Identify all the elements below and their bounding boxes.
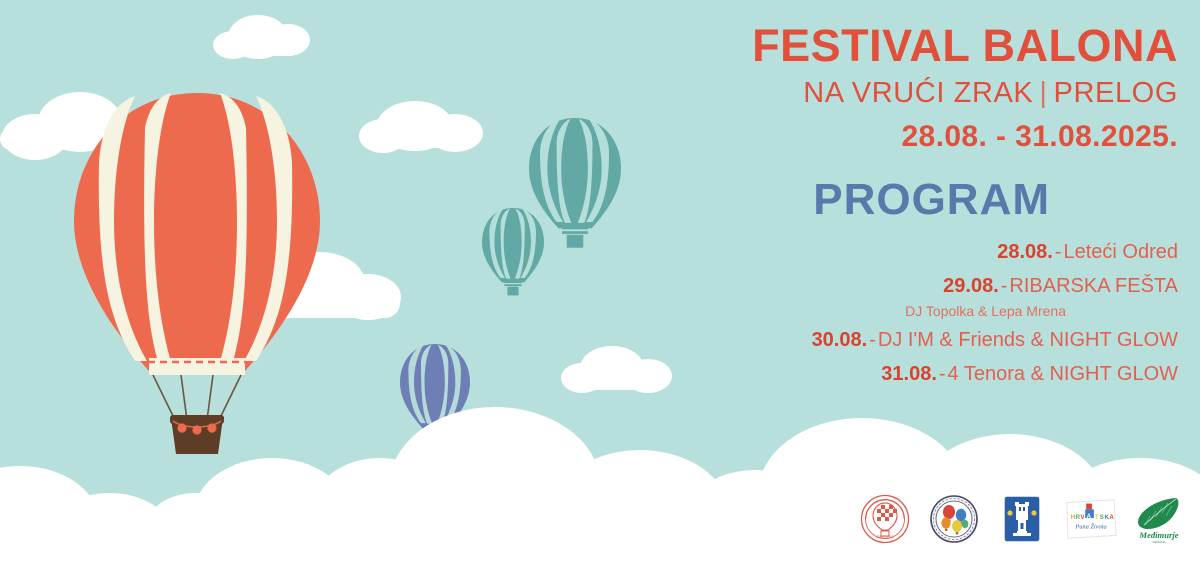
program-item: 30.08.-DJ I'M & Friends & NIGHT GLOW <box>620 325 1178 359</box>
program-heading: PROGRAM <box>620 153 1178 223</box>
festival-poster: FESTIVAL BALONA NA VRUĆI ZRAK|PRELOG 28.… <box>0 0 1200 566</box>
svg-text:Puna Života: Puna Života <box>1074 523 1106 531</box>
prelog-coat-of-arms-logo <box>995 492 1049 546</box>
program-act: RIBARSKA FEŠTA <box>1009 275 1178 297</box>
program-act: Leteći Odred <box>1063 241 1178 263</box>
program-line: 29.08.-RIBARSKA FEŠTA <box>943 275 1178 297</box>
subtitle-divider: | <box>1033 77 1053 109</box>
svg-text:ČAKOVEC: ČAKOVEC <box>876 534 894 539</box>
program-date: 28.08. <box>997 241 1053 263</box>
program-date: 31.08. <box>881 363 937 385</box>
festival-title: FESTIVAL BALONA <box>620 0 1178 70</box>
hrvatska-puna-zivota-logo: H R V A T S K A Puna Života <box>1064 492 1118 546</box>
svg-text:Međimurje: Međimurje <box>1138 530 1178 540</box>
program-list: 28.08.-Leteći Odred 29.08.-RIBARSKA FEŠT… <box>620 223 1178 394</box>
hot-air-balloon-team-cakovec-logo: ČAKOVEC <box>858 492 912 546</box>
program-item: 31.08.-4 Tenora & NIGHT GLOW <box>620 359 1178 393</box>
balloon-basket <box>170 415 224 454</box>
program-act: 4 Tenora & NIGHT GLOW <box>948 363 1178 385</box>
program-date: 30.08. <box>812 329 868 351</box>
svg-text:A: A <box>1086 513 1091 520</box>
festival-dates: 28.08. - 31.08.2025. <box>620 110 1178 153</box>
program-item: 28.08.-Leteći Odred <box>620 237 1178 271</box>
sponsor-logo-strip: ČAKOVEC <box>858 488 1186 550</box>
balloon-club-emblem-logo <box>927 492 981 546</box>
program-date: 29.08. <box>943 275 999 297</box>
program-dash: - <box>999 275 1010 297</box>
program-line: 31.08.-4 Tenora & NIGHT GLOW <box>881 363 1178 385</box>
program-dash: - <box>937 363 948 385</box>
program-line: 30.08.-DJ I'M & Friends & NIGHT GLOW <box>812 329 1178 351</box>
program-act: DJ I'M & Friends & NIGHT GLOW <box>878 329 1178 351</box>
balloon-skirt <box>149 358 245 375</box>
svg-text:T: T <box>1094 514 1098 521</box>
svg-text:S: S <box>1099 514 1103 521</box>
svg-text:A: A <box>1109 514 1114 521</box>
program-note: DJ Topolka & Lepa Mrena <box>620 301 1178 322</box>
svg-text:CROATIA: CROATIA <box>1152 540 1165 544</box>
program-dash: - <box>1053 241 1064 263</box>
program-item: 29.08.-RIBARSKA FEŠTA DJ Topolka & Lepa … <box>620 271 1178 326</box>
festival-subtitle-left: NA VRUĆI ZRAK <box>803 77 1033 109</box>
program-dash: - <box>867 329 878 351</box>
festival-subtitle-location: PRELOG <box>1054 77 1178 109</box>
poster-text-column: FESTIVAL BALONA NA VRUĆI ZRAK|PRELOG 28.… <box>620 0 1190 430</box>
festival-subtitle: NA VRUĆI ZRAK|PRELOG <box>620 70 1178 110</box>
medimurje-leaf-logo: Međimurje CROATIA <box>1132 492 1186 546</box>
program-line: 28.08.-Leteći Odred <box>997 241 1178 263</box>
